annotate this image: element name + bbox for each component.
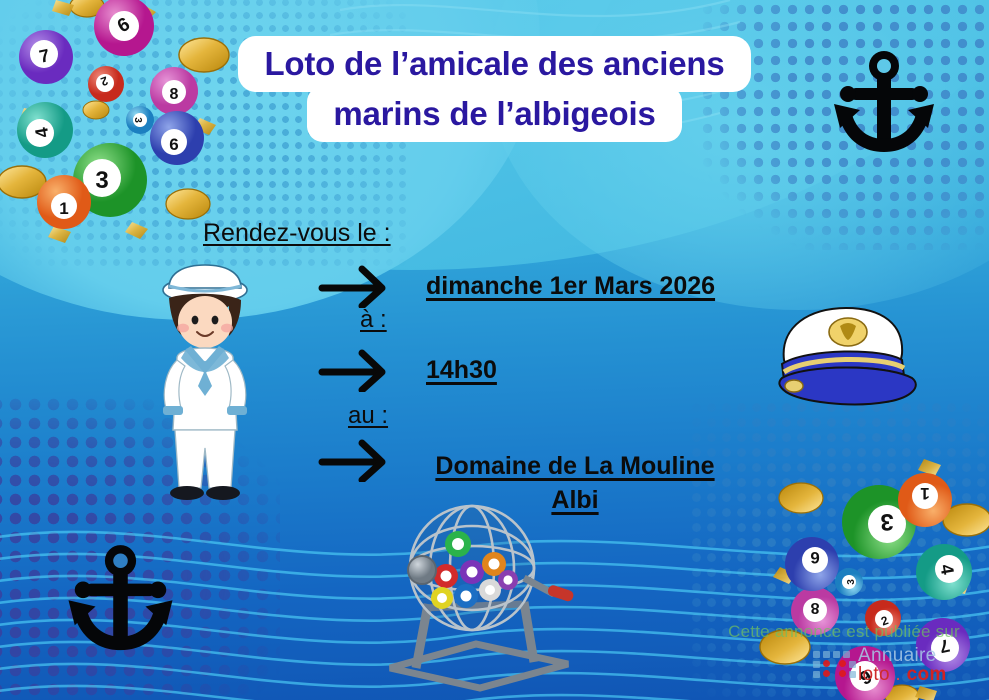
- arrow-icon-place: [318, 438, 390, 482]
- captain-hat-illustration: [762, 298, 927, 410]
- sailor-boy-illustration: [145, 262, 265, 507]
- svg-text:6: 6: [810, 548, 819, 567]
- loto-poster: 9 7 2 8 3 4 6: [0, 0, 989, 700]
- brand-loto-com: loto . com: [858, 665, 947, 684]
- brand-com: com: [907, 664, 947, 685]
- rendezvous-label: Rendez-vous le :: [203, 219, 391, 248]
- brand-dot: .: [890, 664, 907, 685]
- place-label: au :: [348, 402, 388, 430]
- svg-text:3: 3: [846, 579, 857, 585]
- svg-text:8: 8: [810, 599, 819, 616]
- place-value-line-2: Albi: [551, 486, 598, 514]
- anchor-icon-bottom-left: [58, 542, 183, 672]
- time-label: à :: [360, 306, 387, 334]
- place-value-line-1: Domaine de La Mouline: [435, 452, 714, 480]
- title-line-2: marins de l’albigeois: [307, 86, 681, 142]
- watermark-text: Cette annonce est publiée sur: [709, 622, 979, 642]
- watermark-logo: Annuaire loto . com: [813, 646, 947, 685]
- arrow-icon-date: [318, 264, 390, 308]
- grid-dots-icon: [813, 649, 853, 681]
- brand-annuaire: Annuaire: [858, 646, 947, 665]
- title-line-1: Loto de l’amicale des anciens: [238, 36, 750, 92]
- arrow-icon-time: [318, 348, 390, 392]
- svg-text:1: 1: [59, 199, 68, 218]
- brand-loto: loto: [858, 664, 890, 685]
- place-value: Domaine de La Mouline Albi: [415, 450, 735, 518]
- bingo-cage-illustration: [372, 492, 584, 692]
- time-value: 14h30: [426, 356, 497, 385]
- watermark: Cette annonce est publiée sur Annuaire l…: [709, 622, 979, 696]
- svg-text:3: 3: [880, 508, 893, 535]
- svg-text:3: 3: [95, 167, 108, 194]
- title-banner: Loto de l’amicale des anciens marins de …: [0, 36, 989, 142]
- svg-text:1: 1: [920, 484, 929, 503]
- watermark-brand: Annuaire loto . com: [858, 646, 947, 685]
- date-value: dimanche 1er Mars 2026: [426, 272, 715, 301]
